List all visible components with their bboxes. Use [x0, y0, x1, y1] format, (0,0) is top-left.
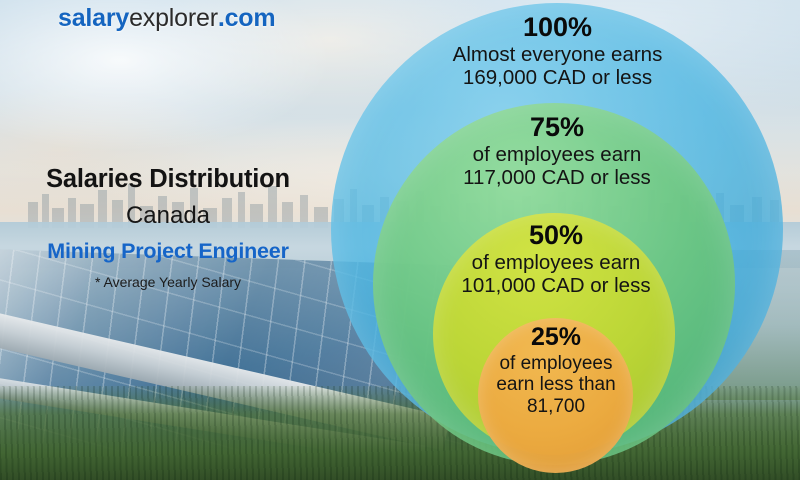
- site-logo[interactable]: salaryexplorer.com: [58, 4, 275, 33]
- salary-note: * Average Yearly Salary: [0, 274, 336, 290]
- percentile-value-100: 100%: [410, 12, 705, 42]
- heading-block: Salaries Distribution Canada Mining Proj…: [0, 165, 336, 290]
- percentile-line1-25: of employees: [452, 353, 660, 374]
- percentile-line2-75: 117,000 CAD or less: [412, 167, 702, 190]
- percentile-value-50: 50%: [420, 220, 692, 250]
- percentile-line1-50: of employees earn: [420, 252, 692, 275]
- page-title: Salaries Distribution: [0, 165, 336, 194]
- logo-part-tld: .com: [218, 4, 276, 32]
- percentile-label-50: 50% of employees earn 101,000 CAD or les…: [420, 220, 692, 298]
- percentile-line1-100: Almost everyone earns: [410, 44, 705, 67]
- percentile-line2-25: earn less than: [452, 374, 660, 395]
- country-label: Canada: [0, 202, 336, 230]
- percentile-value-25: 25%: [452, 323, 660, 351]
- percentile-line3-25: 81,700: [452, 396, 660, 417]
- percentile-line2-50: 101,000 CAD or less: [420, 275, 692, 298]
- percentile-label-25: 25% of employees earn less than 81,700: [452, 323, 660, 417]
- percentile-line2-100: 169,000 CAD or less: [410, 67, 705, 90]
- percentile-line1-75: of employees earn: [412, 144, 702, 167]
- logo-part-explorer: explorer: [129, 4, 218, 32]
- infographic-canvas: salaryexplorer.com Salaries Distribution…: [0, 0, 800, 480]
- percentile-label-100: 100% Almost everyone earns 169,000 CAD o…: [410, 12, 705, 90]
- job-title-label: Mining Project Engineer: [0, 239, 336, 264]
- percentile-value-75: 75%: [412, 112, 702, 142]
- percentile-label-75: 75% of employees earn 117,000 CAD or les…: [412, 112, 702, 190]
- logo-part-salary: salary: [58, 4, 129, 32]
